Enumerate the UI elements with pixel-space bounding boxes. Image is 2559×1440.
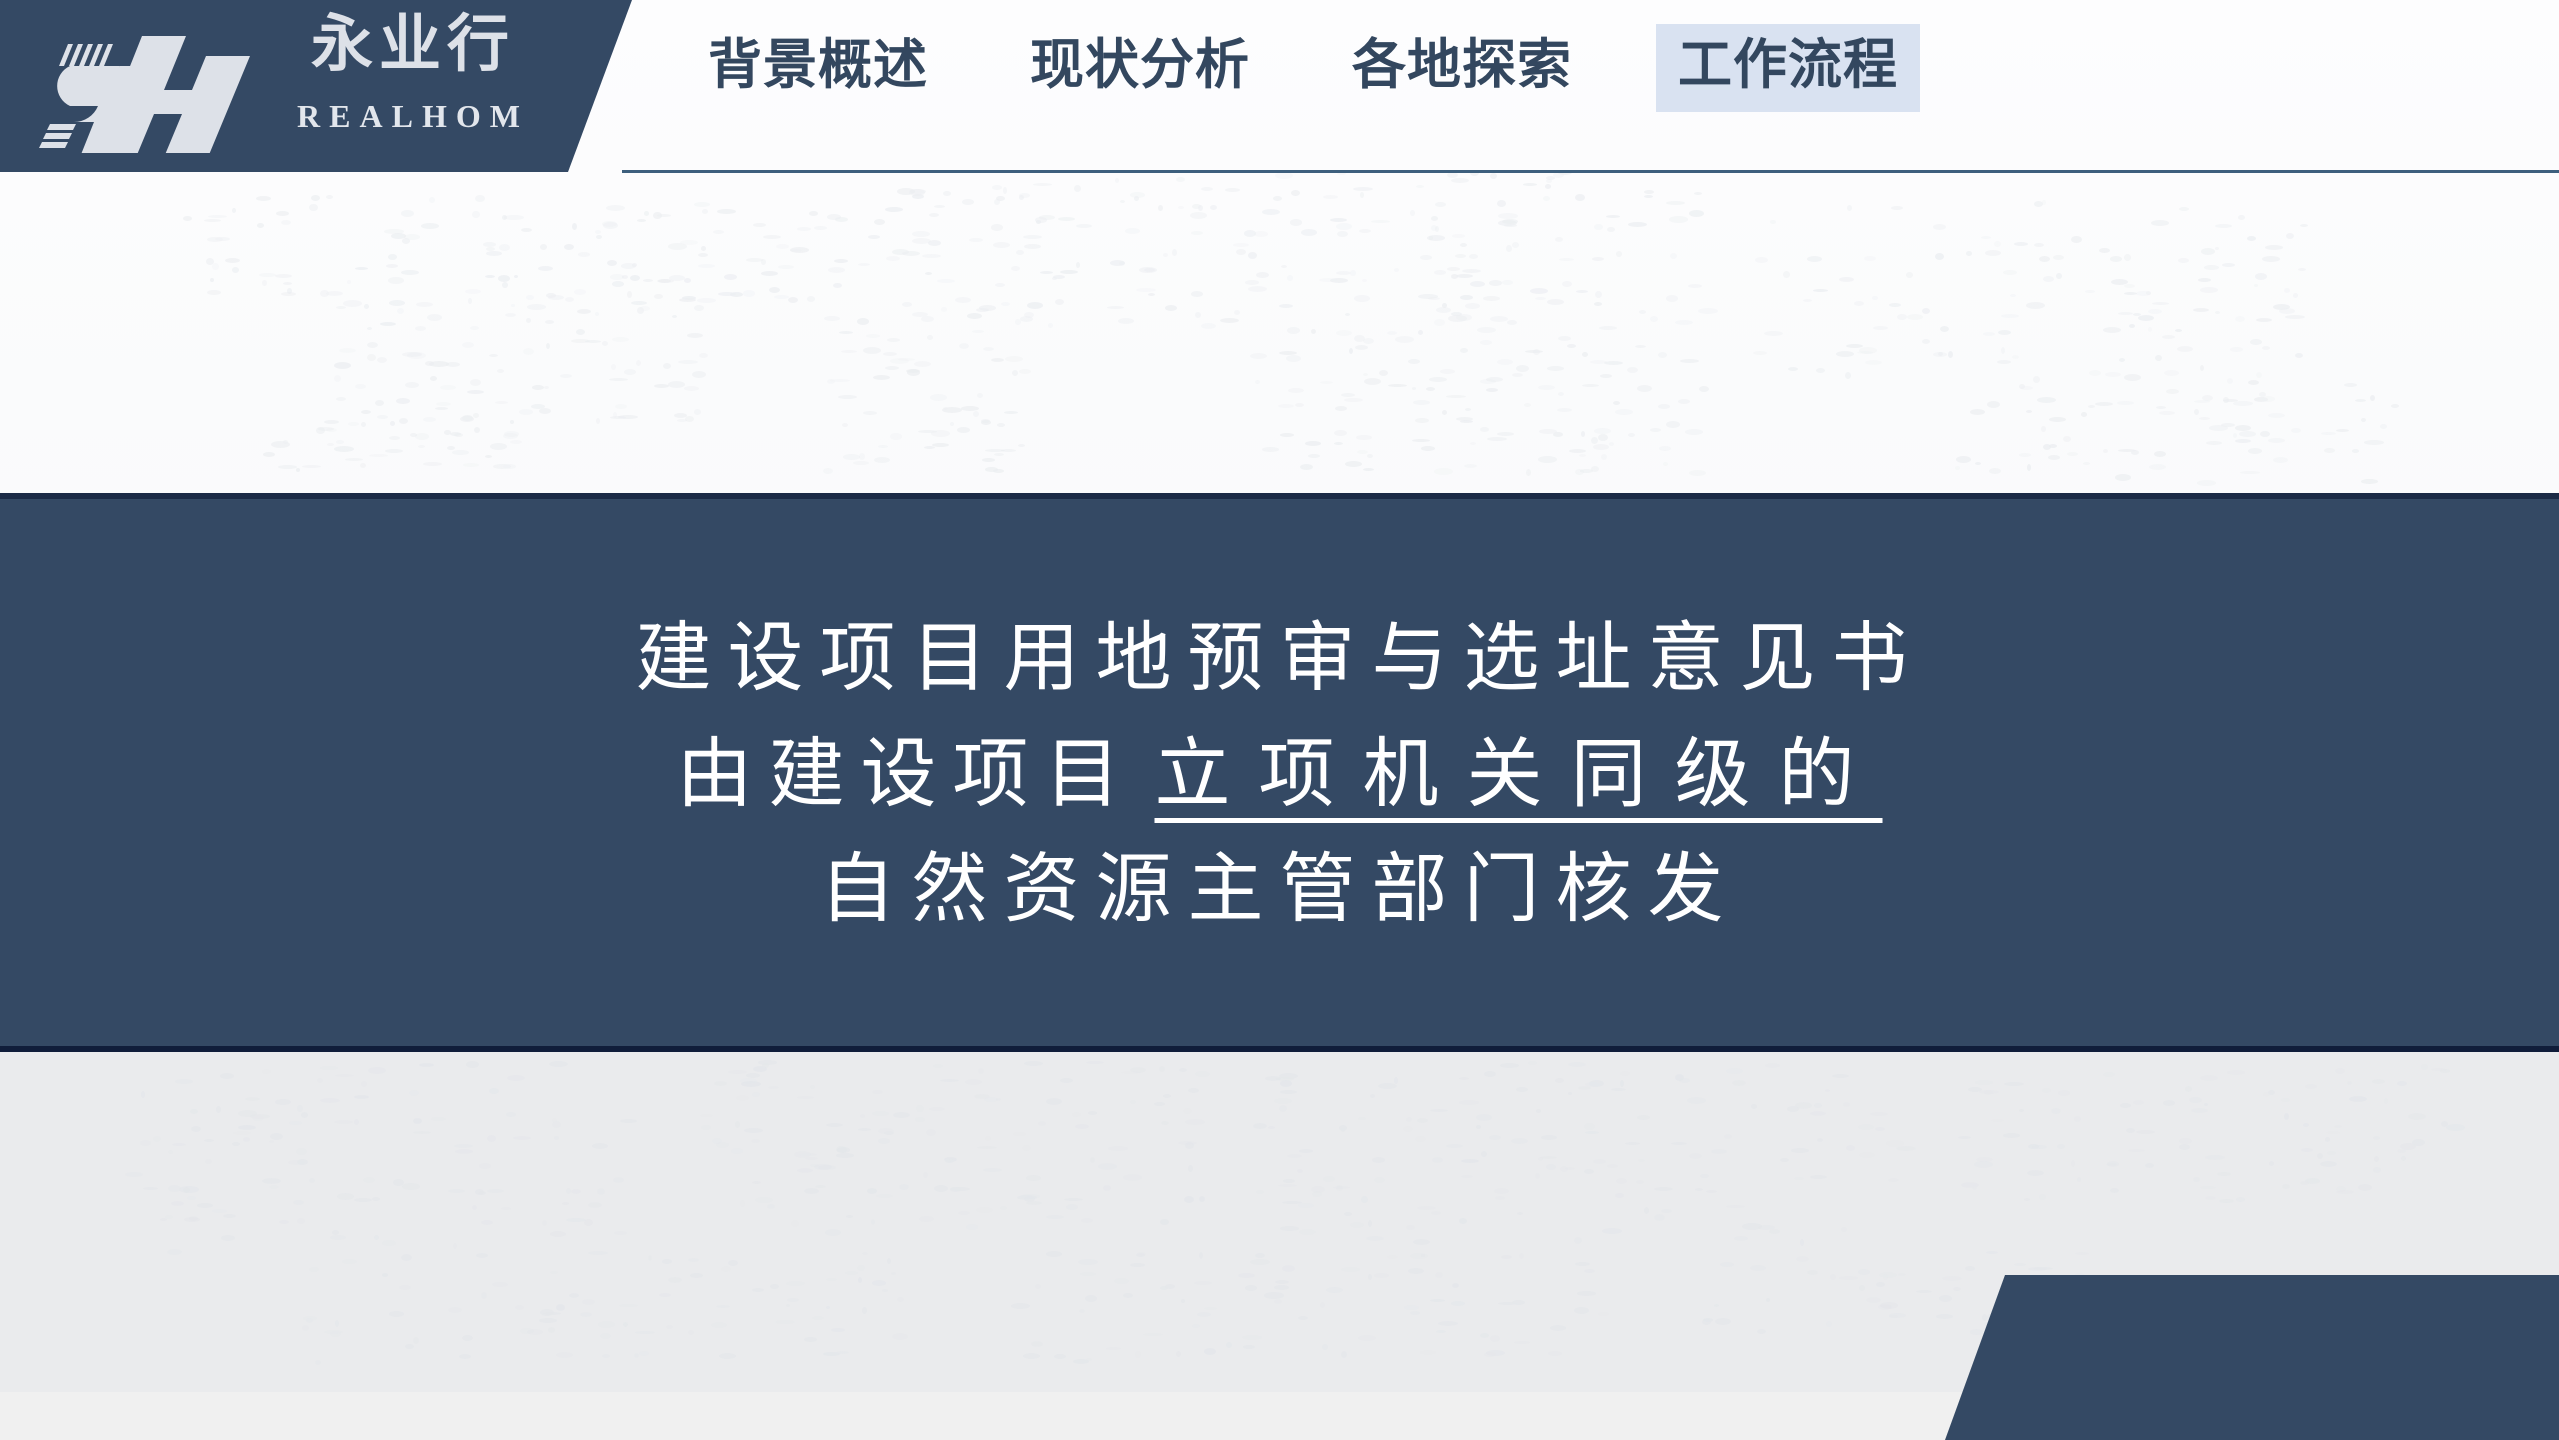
panel-line-2: 由建设项目立项机关同级的 xyxy=(677,718,1883,834)
nav-item-workflow[interactable]: 工作流程 xyxy=(1656,24,1920,112)
logo-banner: 永业行 REALHOM xyxy=(0,0,632,172)
yh-monogram-logo-icon xyxy=(22,18,262,153)
header: 永业行 REALHOM 背景概述 现状分析 各地探索 工作流程 xyxy=(0,0,2559,175)
nav-item-regional-exploration[interactable]: 各地探索 xyxy=(1334,24,1590,112)
brand-name-cn: 永业行 xyxy=(258,14,568,76)
panel-line-2-prefix: 由建设项目 xyxy=(677,733,1137,817)
content-panel: 建设项目用地预审与选址意见书 由建设项目立项机关同级的 自然资源主管部门核发 xyxy=(0,493,2559,1052)
panel-line-3: 自然资源主管部门核发 xyxy=(820,833,1740,949)
header-divider xyxy=(622,170,2559,173)
corner-decoration-shape xyxy=(1945,1275,2559,1440)
slide-root: 永业行 REALHOM 背景概述 现状分析 各地探索 工作流程 建设项目用地预审… xyxy=(0,0,2559,1440)
nav-item-current-analysis[interactable]: 现状分析 xyxy=(1012,24,1268,112)
nav-item-background[interactable]: 背景概述 xyxy=(690,24,946,112)
main-nav: 背景概述 现状分析 各地探索 工作流程 xyxy=(690,24,1920,142)
brand-name-en: REALHOM xyxy=(258,98,568,135)
panel-line-2-underlined: 立项机关同级的 xyxy=(1137,733,1883,817)
panel-line-1: 建设项目用地预审与选址意见书 xyxy=(636,602,1924,718)
content-panel-lines: 建设项目用地预审与选址意见书 由建设项目立项机关同级的 自然资源主管部门核发 xyxy=(0,499,2559,1046)
